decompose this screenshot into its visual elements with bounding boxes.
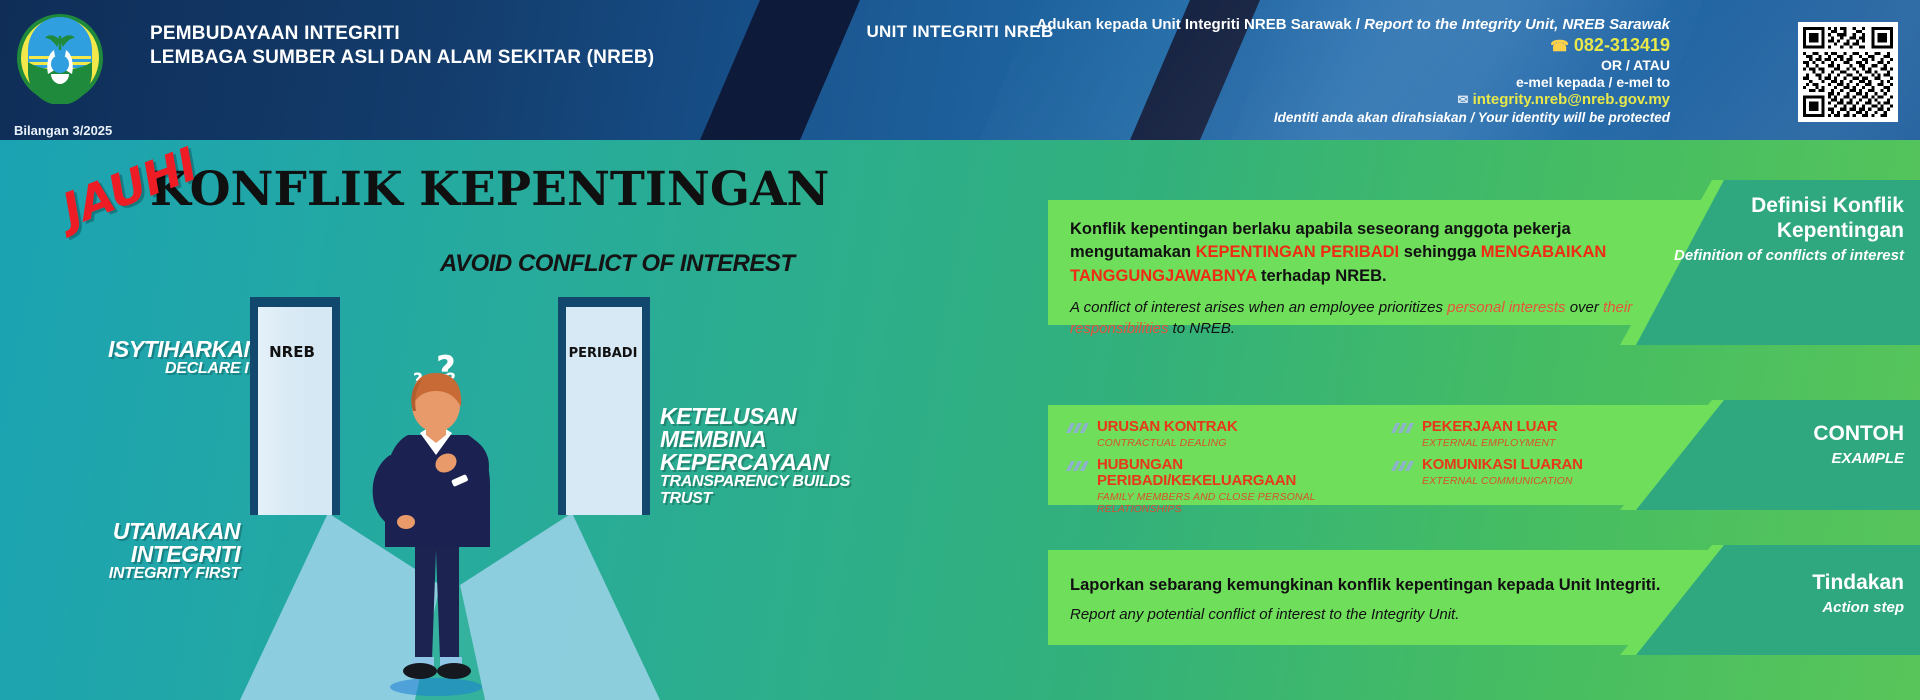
action-text-en: Report any potential conflict of interes… xyxy=(1070,605,1686,625)
page-title: KONFLIK KEPENTINGAN xyxy=(150,162,829,217)
callout-integrity-ms: UTAMAKAN INTEGRITI xyxy=(35,520,240,566)
two-doors-illustration: NREB PERIBADI ? ? ? xyxy=(240,285,660,700)
tab-action-ms: Tindakan xyxy=(1812,571,1904,596)
example-item-text: HUBUNGAN PERIBADI/KEKELUARGAAN FAMILY ME… xyxy=(1097,457,1373,516)
tab-example: CONTOH EXAMPLE xyxy=(1620,400,1920,510)
report-line: Adukan kepada Unit Integriti NREB Sarawa… xyxy=(770,16,1670,33)
identity-protected-note: Identiti anda akan dirahsiakan / Your id… xyxy=(770,110,1670,125)
page-subtitle: AVOID CONFLICT OF INTEREST xyxy=(440,250,795,278)
definition-text-en: A conflict of interest arises when an em… xyxy=(1070,298,1686,339)
header-contact-block: Adukan kepada Unit Integriti NREB Sarawa… xyxy=(770,16,1670,125)
example-item-text: KOMUNIKASI LUARAN EXTERNAL COMMUNICATION xyxy=(1422,457,1583,487)
panel-definition: Konflik kepentingan berlaku apabila sese… xyxy=(1048,200,1708,325)
panel-action: Laporkan sebarang kemungkinan konflik ke… xyxy=(1048,550,1708,645)
tab-action: Tindakan Action step xyxy=(1620,545,1920,655)
callout-integrity-first: UTAMAKAN INTEGRITI INTEGRITY FIRST xyxy=(35,520,240,583)
tab-example-en: EXAMPLE xyxy=(1813,450,1904,468)
example-item: HUBUNGAN PERIBADI/KEKELUARGAAN FAMILY ME… xyxy=(1066,457,1373,516)
qr-code-icon[interactable] xyxy=(1798,22,1898,122)
nreb-logo-icon xyxy=(14,12,106,104)
definition-ms-red1: KEPENTINGAN PERIBADI xyxy=(1196,243,1400,261)
action-text-ms: Laporkan sebarang kemungkinan konflik ke… xyxy=(1070,574,1686,597)
tab-example-ms: CONTOH xyxy=(1813,422,1904,447)
example-en: FAMILY MEMBERS AND CLOSE PERSONAL RELATI… xyxy=(1097,491,1373,516)
example-ms: URUSAN KONTRAK xyxy=(1097,419,1238,435)
hero-kicker: JAUHI xyxy=(55,137,204,237)
chevron-stripes-icon xyxy=(1066,460,1090,478)
email-label: e-mel kepada / e-mel to xyxy=(770,74,1670,90)
phone-icon: ☎ xyxy=(1550,38,1569,55)
tab-definition-en: Definition of conflicts of interest xyxy=(1620,247,1904,265)
contact-email[interactable]: integrity.nreb@nreb.gov.my xyxy=(1473,91,1670,108)
contact-phone-row[interactable]: ☎ 082-313419 xyxy=(770,35,1670,56)
example-en: CONTRACTUAL DEALING xyxy=(1097,437,1238,450)
report-line-ms: Adukan kepada Unit Integriti NREB Sarawa… xyxy=(1037,16,1352,33)
definition-ms-part3: terhadap NREB. xyxy=(1256,267,1386,285)
panel-examples: URUSAN KONTRAK CONTRACTUAL DEALING PEKER… xyxy=(1048,405,1708,505)
example-item: URUSAN KONTRAK CONTRACTUAL DEALING xyxy=(1066,419,1373,449)
org-title-line-1: PEMBUDAYAAN INTEGRITI xyxy=(150,22,710,46)
example-item-text: PEKERJAAN LUAR EXTERNAL EMPLOYMENT xyxy=(1422,419,1558,449)
tab-example-text: CONTOH EXAMPLE xyxy=(1813,422,1904,468)
definition-en-red1: personal interests xyxy=(1447,299,1565,316)
report-line-en: Report to the Integrity Unit, NREB Saraw… xyxy=(1364,16,1670,33)
header-left-band xyxy=(0,0,760,140)
example-item-text: URUSAN KONTRAK CONTRACTUAL DEALING xyxy=(1097,419,1238,449)
org-title-line-2: LEMBAGA SUMBER ASLI DAN ALAM SEKITAR (NR… xyxy=(150,46,710,70)
tab-action-text: Tindakan Action step xyxy=(1812,571,1904,617)
definition-text-ms: Konflik kepentingan berlaku apabila sese… xyxy=(1070,218,1686,288)
tab-definition-ms: Definisi Konflik Kepentingan xyxy=(1620,194,1904,244)
chevron-stripes-icon xyxy=(1391,422,1415,440)
door-right xyxy=(558,297,650,515)
definition-ms-part2: sehingga xyxy=(1399,243,1481,261)
example-ms: PEKERJAAN LUAR xyxy=(1422,419,1558,435)
example-en: EXTERNAL EMPLOYMENT xyxy=(1422,437,1558,450)
callout-declare-en: DECLARE IT xyxy=(108,361,258,378)
infographic-poster: PEMBUDAYAAN INTEGRITI LEMBAGA SUMBER ASL… xyxy=(0,0,1920,700)
callout-transparency-ms: KETELUSAN MEMBINA KEPERCAYAAN xyxy=(660,405,875,474)
contact-email-row[interactable]: ✉ integrity.nreb@nreb.gov.my xyxy=(770,91,1670,108)
callout-integrity-en: INTEGRITY FIRST xyxy=(35,566,240,583)
example-en: EXTERNAL COMMUNICATION xyxy=(1422,475,1583,488)
org-title-block: PEMBUDAYAAN INTEGRITI LEMBAGA SUMBER ASL… xyxy=(150,22,710,70)
callout-transparency: KETELUSAN MEMBINA KEPERCAYAAN TRANSPAREN… xyxy=(660,405,875,508)
page-header: PEMBUDAYAAN INTEGRITI LEMBAGA SUMBER ASL… xyxy=(0,0,1920,140)
example-ms: HUBUNGAN PERIBADI/KEKELUARGAAN xyxy=(1097,457,1373,489)
door-right-label: PERIBADI xyxy=(569,346,638,361)
chevron-stripes-icon xyxy=(1391,460,1415,478)
example-ms: KOMUNIKASI LUARAN xyxy=(1422,457,1583,473)
callout-transparency-en: TRANSPARENCY BUILDS TRUST xyxy=(660,474,875,508)
door-left-label: NREB xyxy=(269,343,315,361)
tab-definition: Definisi Konflik Kepentingan Definition … xyxy=(1620,180,1920,345)
or-atau-label: OR / ATAU xyxy=(770,57,1670,73)
examples-grid: URUSAN KONTRAK CONTRACTUAL DEALING PEKER… xyxy=(1048,405,1708,505)
callout-declare-it: ISYTIHARKAN DECLARE IT xyxy=(108,338,258,378)
tab-definition-text: Definisi Konflik Kepentingan Definition … xyxy=(1620,194,1904,265)
tab-action-en: Action step xyxy=(1812,599,1904,617)
issue-number: Bilangan 3/2025 xyxy=(14,123,112,138)
definition-en-part3: to NREB. xyxy=(1168,320,1235,337)
contact-phone[interactable]: 082-313419 xyxy=(1574,35,1670,55)
definition-en-part1: A conflict of interest arises when an em… xyxy=(1070,299,1447,316)
door-left xyxy=(250,297,340,515)
report-line-separator: / xyxy=(1356,16,1360,33)
callout-declare-ms: ISYTIHARKAN xyxy=(108,338,258,361)
chevron-stripes-icon xyxy=(1066,422,1090,440)
envelope-icon: ✉ xyxy=(1457,92,1468,107)
definition-en-part2: over xyxy=(1566,299,1604,316)
hand-on-hip xyxy=(397,515,415,529)
